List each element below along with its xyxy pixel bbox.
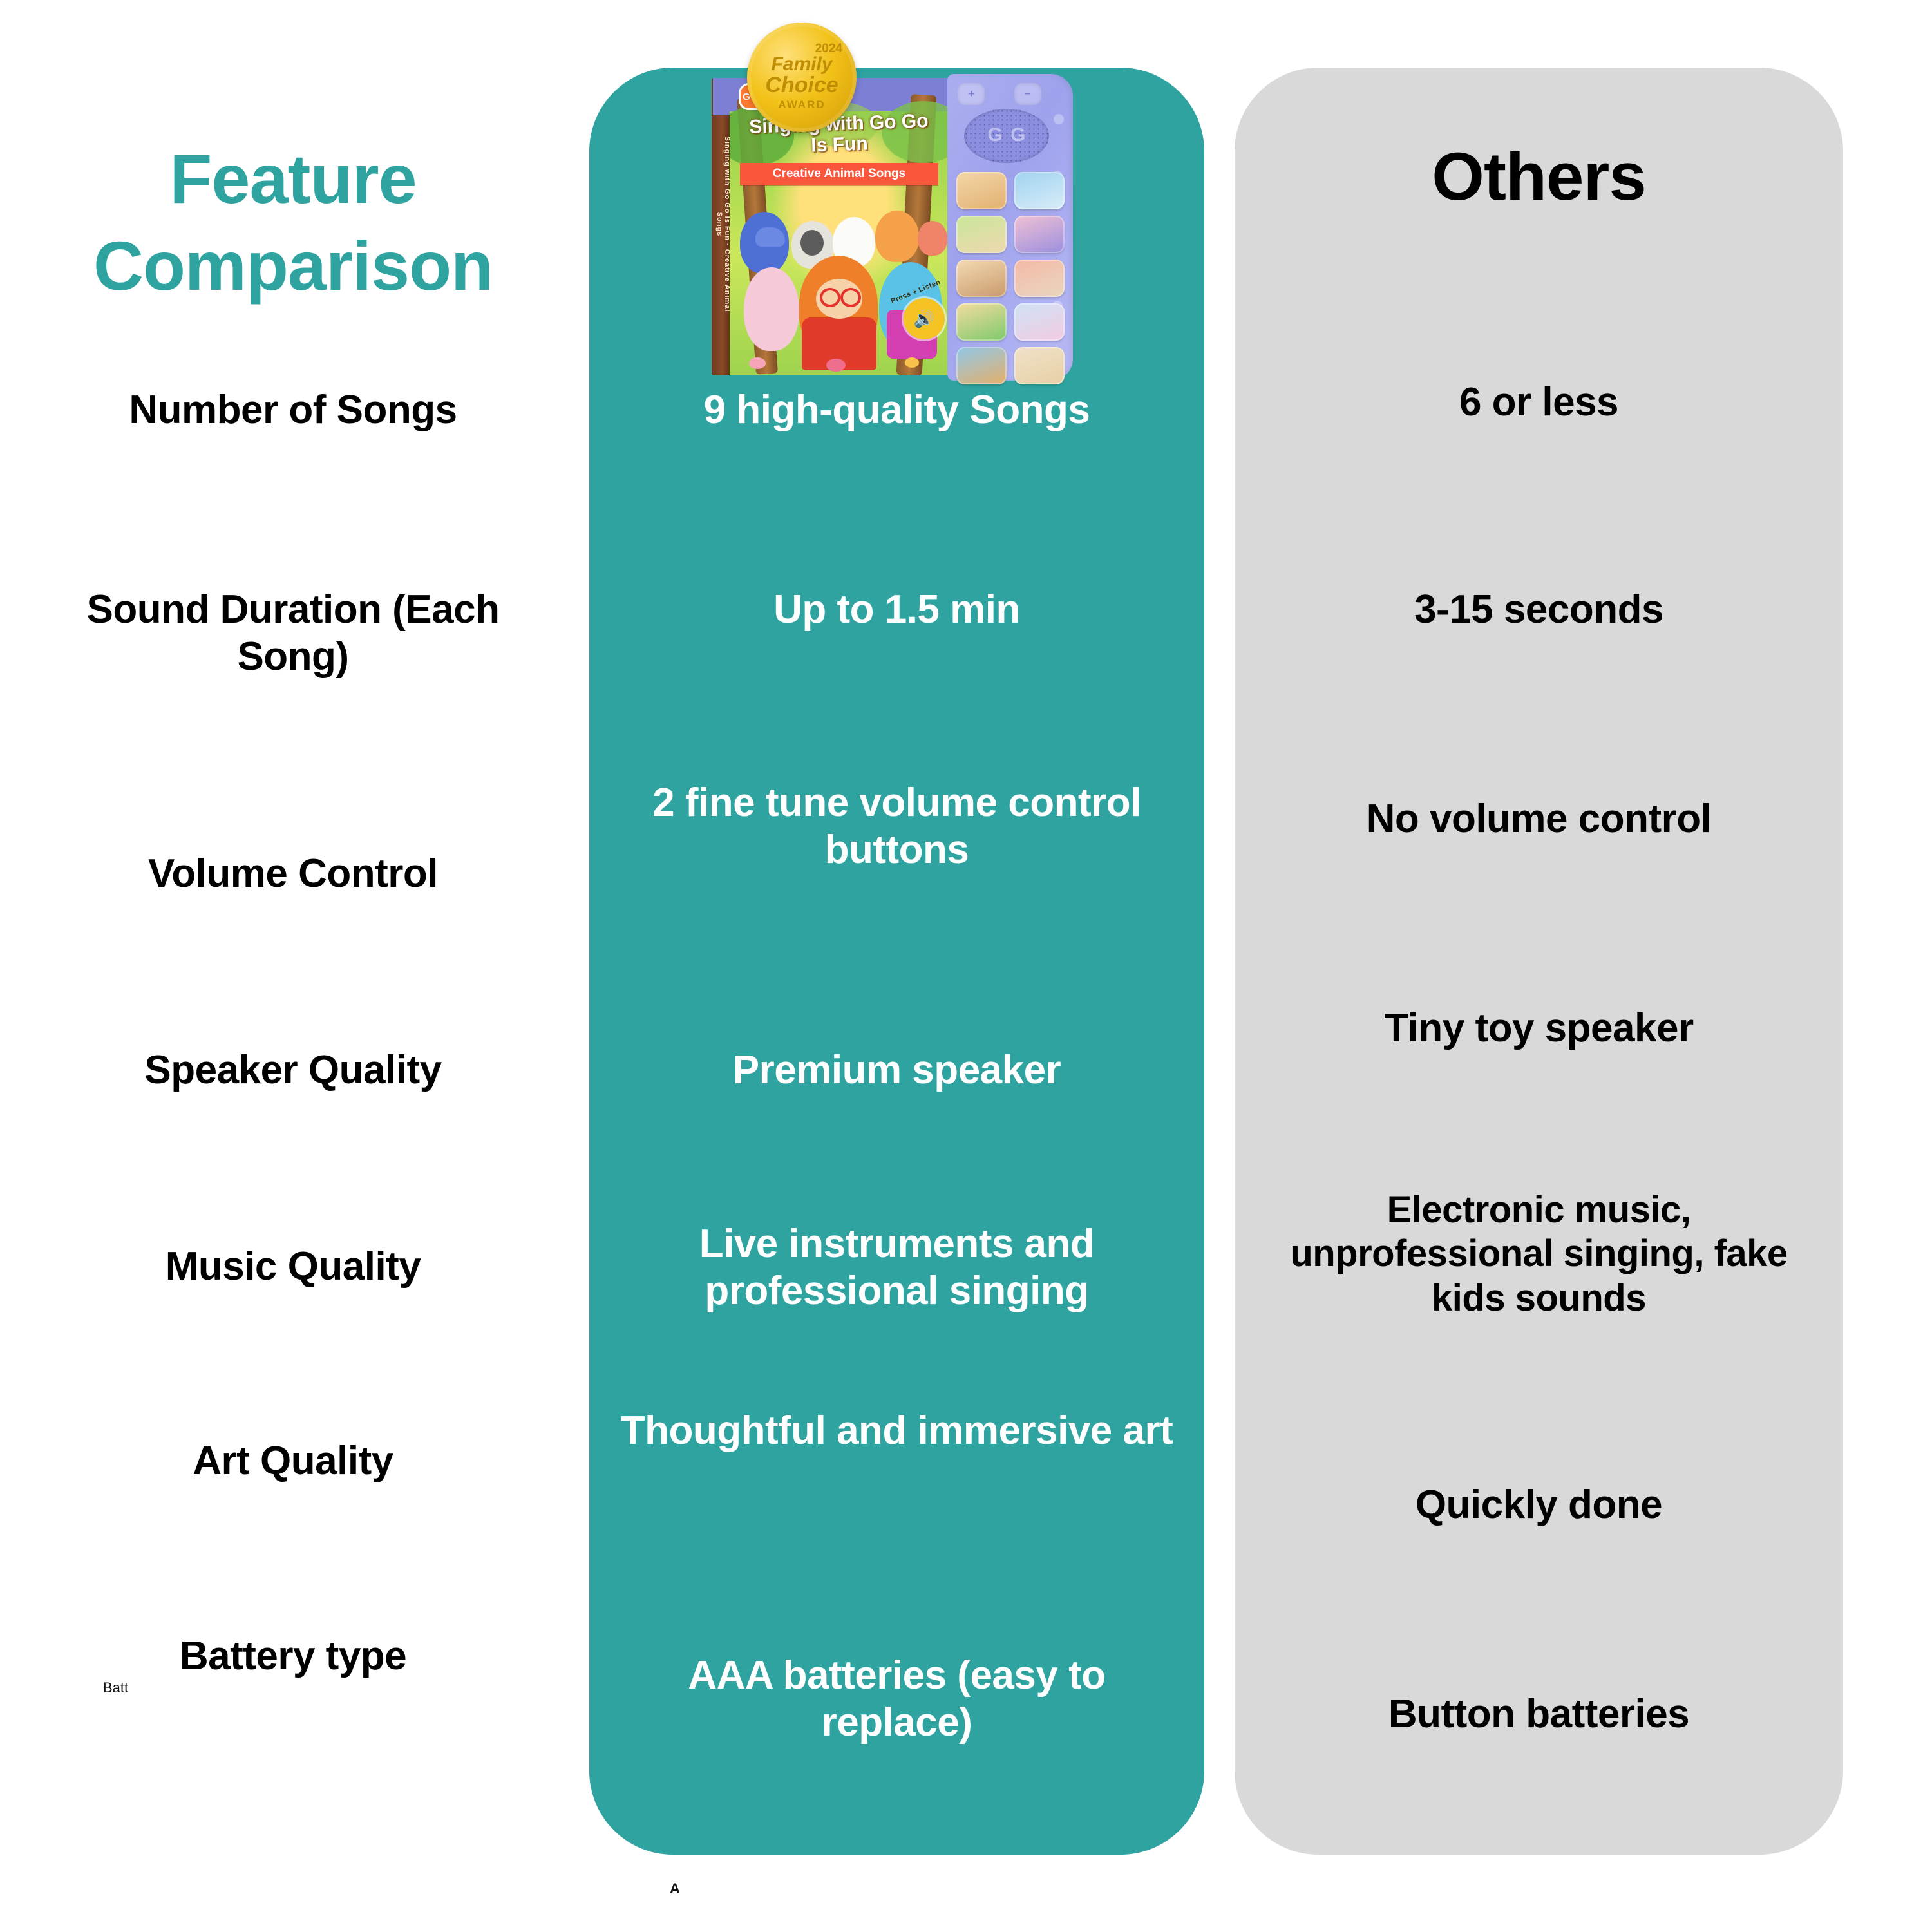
sound-button-4[interactable] [1014, 216, 1065, 253]
volume-up-button[interactable]: + [958, 83, 985, 105]
feature-label-music-quality: Music Quality [39, 1243, 547, 1290]
ours-value-sound-duration: Up to 1.5 min [609, 586, 1185, 633]
others-value-art-quality: Quickly done [1254, 1481, 1824, 1528]
others-value-number-of-songs: 6 or less [1254, 379, 1824, 426]
cover-title: Singing with Go Go Is Fun [730, 110, 949, 158]
others-column-panel [1235, 68, 1843, 1855]
book-front-cover: GO GO Singing with Go Go Is Fun Creative… [730, 78, 949, 375]
ours-value-battery-type: AAA batteries (easy to replace) [609, 1652, 1185, 1746]
sound-button-1[interactable] [956, 172, 1007, 209]
glasses-lens-right-icon [840, 288, 861, 307]
sound-button-8[interactable] [1014, 303, 1065, 341]
cover-subtitle-ribbon: Creative Animal Songs [740, 163, 938, 185]
others-value-volume-control: No volume control [1254, 795, 1824, 842]
ours-value-number-of-songs: 9 high-quality Songs [609, 386, 1185, 433]
sound-button-grid [956, 172, 1065, 384]
product-image: Singing with Go Go Is Fun · Creative Ani… [712, 23, 1162, 380]
others-value-sound-duration: 3-15 seconds [1254, 586, 1824, 633]
feature-label-speaker-quality: Speaker Quality [39, 1046, 547, 1094]
award-badge-line-2: Choice [747, 73, 857, 98]
feature-label-volume-control: Volume Control [39, 850, 547, 897]
bird-character [918, 221, 947, 256]
others-column-header: Others [1235, 138, 1843, 216]
feature-label-sound-duration: Sound Duration (Each Song) [39, 586, 547, 680]
family-choice-award-badge: 2024 Family Choice AWARD [747, 23, 857, 132]
award-badge-line-1: Family [747, 53, 857, 75]
flower-decoration-2 [826, 359, 846, 372]
sound-button-9[interactable] [956, 347, 1007, 384]
ours-value-art-quality: Thoughtful and immersive art [609, 1407, 1185, 1454]
sound-button-6[interactable] [1014, 260, 1065, 297]
book-spine-text: Singing with Go Go Is Fun · Creative Ani… [715, 128, 731, 321]
page-title-line-2: Comparison [39, 222, 547, 309]
others-value-speaker-quality: Tiny toy speaker [1254, 1005, 1824, 1052]
sound-button-2[interactable] [1014, 172, 1065, 209]
sound-button-7[interactable] [956, 303, 1007, 341]
award-badge-line-3: AWARD [747, 99, 857, 111]
others-value-battery-type: Button batteries [1254, 1690, 1824, 1738]
volume-down-button[interactable]: − [1014, 83, 1041, 105]
flower-decoration-1 [749, 357, 766, 369]
ours-value-speaker-quality: Premium speaker [609, 1046, 1185, 1094]
others-value-music-quality: Electronic music, unprofessional singing… [1254, 1188, 1824, 1320]
sound-button-5[interactable] [956, 260, 1007, 297]
speaker-volume-icon: 🔊 [904, 298, 945, 339]
ours-value-music-quality: Live instruments and professional singin… [609, 1220, 1185, 1314]
ours-value-volume-control: 2 fine tune volume control buttons [609, 779, 1185, 873]
paw-print-icon [1054, 114, 1064, 124]
glasses-lens-left-icon [820, 288, 840, 307]
book-spine: Singing with Go Go Is Fun · Creative Ani… [712, 78, 731, 375]
cow-character [744, 267, 799, 351]
feature-label-battery-type: Battery type [39, 1633, 547, 1680]
sound-button-3[interactable] [956, 216, 1007, 253]
dinosaur-snout [755, 227, 785, 247]
page-title-line-1: Feature [39, 135, 547, 222]
cat-character [875, 211, 919, 262]
feature-label-art-quality: Art Quality [39, 1437, 547, 1484]
stray-text-artifact-a: A [670, 1880, 680, 1897]
flower-decoration-3 [905, 357, 919, 368]
feature-label-number-of-songs: Number of Songs [39, 386, 547, 433]
gogo-embossed-logo: G G [973, 124, 1041, 146]
page-title: Feature Comparison [39, 135, 547, 309]
sheep-head [800, 230, 824, 256]
sound-button-10[interactable] [1014, 347, 1065, 384]
book-spine-top-band [713, 78, 730, 115]
stray-text-artifact-batt: Batt [103, 1680, 128, 1696]
sound-button-module: + − G G [947, 74, 1073, 381]
